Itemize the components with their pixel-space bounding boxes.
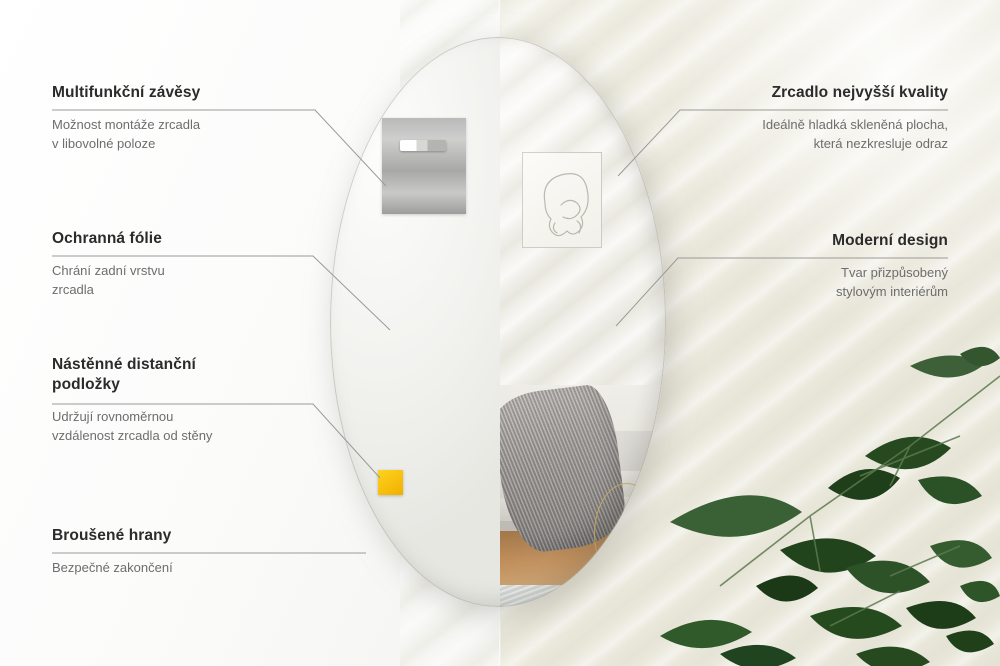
mirror-body [330,37,666,607]
foliage-plant [660,336,1000,666]
callout-description: Udržují rovnoměrnouvzdálenost zrcadla od… [52,408,332,446]
rug-weave-texture [500,585,666,607]
reflected-rug [500,585,666,607]
callout-title: Zrcadlo nejvyšší kvality [668,83,948,103]
callout-protective-foil: Ochranná fólie Chrání zadní vrstvuzrcadl… [52,229,332,300]
callout-title: Moderní design [668,231,948,251]
callout-description: Chrání zadní vrstvuzrcadla [52,262,332,300]
callout-title: Nástěnné distančnípodložky [52,355,332,395]
reflected-brass-side-table [594,483,660,585]
callout-description: Možnost montáže zrcadlav libovolné poloz… [52,116,332,154]
callout-highest-quality-mirror: Zrcadlo nejvyšší kvality Ideálně hladká … [668,83,948,154]
hanger-plate [382,118,466,214]
callout-title: Multifunkční závěsy [52,83,332,103]
callout-multifunctional-hangers: Multifunkční závěsy Možnost montáže zrca… [52,83,332,154]
callout-description: Bezpečné zakončení [52,559,332,578]
callout-description: Ideálně hladká skleněná plocha,která nez… [668,116,948,154]
callout-modern-design: Moderní design Tvar přizpůsobenýstylovým… [668,231,948,302]
reflected-living-room [500,385,666,607]
callout-title: Ochranná fólie [52,229,332,249]
framed-line-art-icon [522,152,602,248]
product-infographic: Multifunkční závěsy Možnost montáže zrca… [0,0,1000,666]
callout-title: Broušené hrany [52,526,332,546]
callout-wall-spacers: Nástěnné distančnípodložky Udržují rovno… [52,355,332,446]
callout-polished-edges: Broušené hrany Bezpečné zakončení [52,526,332,578]
callout-description: Tvar přizpůsobenýstylovým interiérům [668,264,948,302]
mirror-product [330,37,666,607]
yellow-spacer-pad [378,470,403,495]
hanger-slot-icon [400,140,446,151]
mirror-reflective-surface [500,37,666,607]
